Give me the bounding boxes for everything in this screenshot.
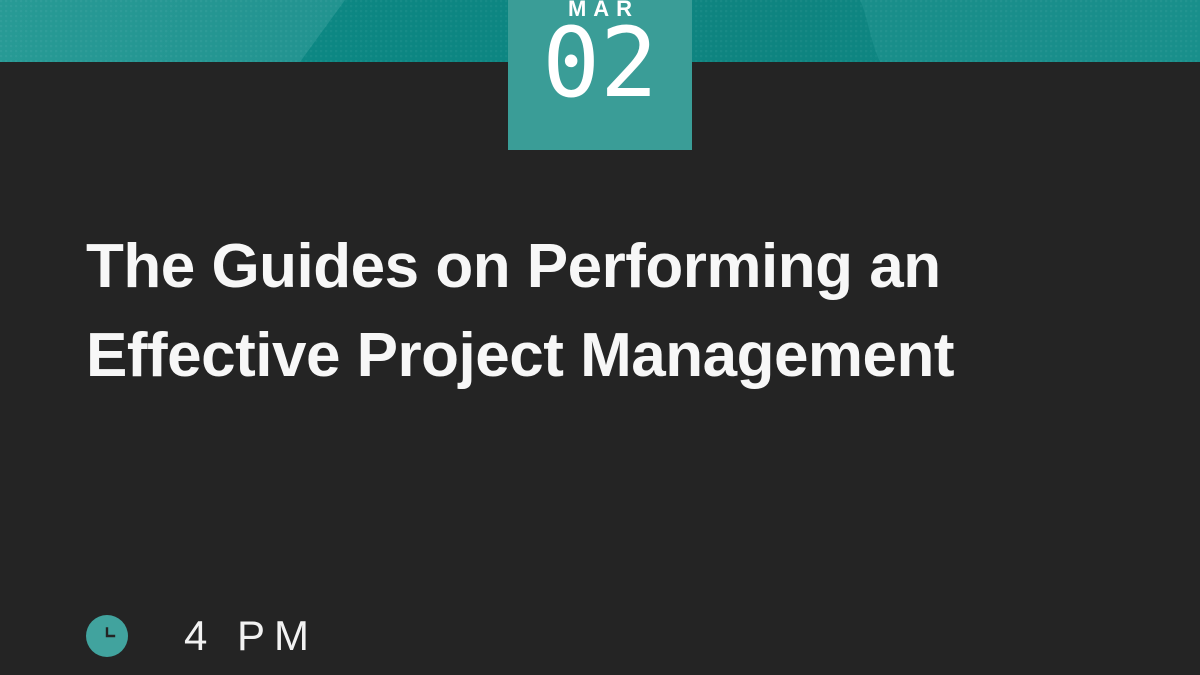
event-meta-row: 4 PM bbox=[86, 612, 318, 660]
event-title: The Guides on Performing an Effective Pr… bbox=[86, 222, 986, 401]
clock-icon bbox=[86, 615, 128, 657]
title-block: The Guides on Performing an Effective Pr… bbox=[86, 222, 986, 401]
date-badge-day: 02 bbox=[542, 15, 658, 113]
date-badge: MAR 02 bbox=[508, 0, 692, 150]
event-time: 4 PM bbox=[184, 612, 318, 660]
